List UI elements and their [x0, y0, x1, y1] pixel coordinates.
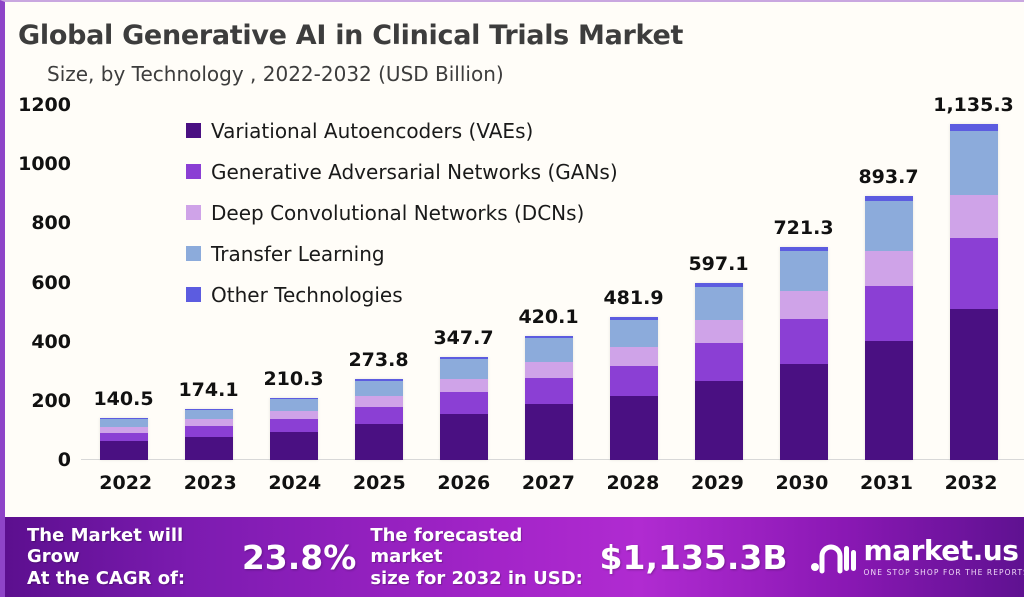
x-axis-tick-label: 2026	[437, 472, 485, 500]
bar-stack[interactable]	[525, 336, 573, 460]
bar-column[interactable]: 893.7	[865, 105, 913, 460]
bar-segment[interactable]	[185, 410, 233, 420]
bar-stack[interactable]	[185, 409, 233, 461]
bar-value-label: 273.8	[348, 349, 408, 371]
bar-segment[interactable]	[610, 366, 658, 396]
y-axis-tick: 0	[58, 449, 71, 471]
bar-segment[interactable]	[525, 362, 573, 378]
bar-segment[interactable]	[270, 432, 318, 460]
x-axis-tick-label: 2025	[353, 472, 401, 500]
bar-value-label: 347.7	[433, 327, 493, 349]
logo-tagline: ONE STOP SHOP FOR THE REPORTS	[864, 568, 1024, 577]
y-axis-tick: 1000	[18, 153, 71, 175]
forecast-value: $1,135.3B	[600, 538, 788, 577]
bar-stack[interactable]	[610, 317, 658, 460]
bar-column[interactable]: 597.1	[695, 105, 743, 460]
bar-segment[interactable]	[780, 251, 828, 292]
bar-segment[interactable]	[100, 441, 148, 460]
bar-stack[interactable]	[865, 196, 913, 460]
bar-column[interactable]: 721.3	[780, 105, 828, 460]
x-axis-tick-label: 2032	[945, 472, 993, 500]
legend-label: Generative Adversarial Networks (GANs)	[211, 160, 618, 184]
chart-infographic: Global Generative AI in Clinical Trials …	[0, 0, 1024, 597]
bar-segment[interactable]	[695, 287, 743, 321]
bar-segment[interactable]	[950, 124, 998, 131]
bar-segment[interactable]	[270, 419, 318, 432]
y-axis-tick: 600	[31, 272, 71, 294]
x-axis-tick-label: 2023	[184, 472, 232, 500]
y-axis-tick: 400	[31, 331, 71, 353]
bar-segment[interactable]	[440, 379, 488, 392]
cagr-caption: The Market will Grow At the CAGR of:	[27, 525, 229, 589]
legend-label: Deep Convolutional Networks (DCNs)	[211, 201, 584, 225]
bar-segment[interactable]	[100, 433, 148, 442]
chart-area: Global Generative AI in Clinical Trials …	[5, 2, 1024, 519]
x-axis-tick-label: 2028	[606, 472, 654, 500]
legend-item[interactable]: Generative Adversarial Networks (GANs)	[186, 151, 618, 192]
bar-segment[interactable]	[525, 404, 573, 460]
bar-value-label: 210.3	[263, 368, 323, 390]
legend-label: Transfer Learning	[211, 242, 385, 266]
bar-segment[interactable]	[865, 251, 913, 285]
x-axis-tick-label: 2024	[268, 472, 316, 500]
legend-label: Variational Autoencoders (VAEs)	[211, 119, 533, 143]
bar-stack[interactable]	[780, 247, 828, 460]
bar-segment[interactable]	[185, 426, 233, 437]
bar-stack[interactable]	[695, 283, 743, 460]
bar-stack[interactable]	[100, 418, 148, 460]
chart-subtitle: Size, by Technology , 2022-2032 (USD Bil…	[47, 62, 504, 86]
bar-segment[interactable]	[525, 378, 573, 404]
bar-segment[interactable]	[950, 131, 998, 195]
bar-segment[interactable]	[440, 359, 488, 379]
bar-segment[interactable]	[355, 396, 403, 407]
legend-swatch	[186, 287, 201, 302]
legend-swatch	[186, 123, 201, 138]
market-us-logo: market.us ONE STOP SHOP FOR THE REPORTS	[810, 537, 1024, 577]
cagr-value: 23.8%	[242, 538, 357, 577]
bar-segment[interactable]	[270, 399, 318, 411]
footer-banner: The Market will Grow At the CAGR of: 23.…	[5, 517, 1024, 597]
bar-value-label: 1,135.3	[933, 94, 1014, 116]
logo-text-block: market.us ONE STOP SHOP FOR THE REPORTS	[864, 537, 1024, 577]
bar-segment[interactable]	[950, 195, 998, 239]
bar-segment[interactable]	[865, 341, 913, 460]
legend-item[interactable]: Deep Convolutional Networks (DCNs)	[186, 192, 618, 233]
bar-segment[interactable]	[780, 364, 828, 460]
legend-swatch	[186, 205, 201, 220]
bar-stack[interactable]	[355, 379, 403, 460]
x-axis-tick-label: 2030	[776, 472, 824, 500]
bar-segment[interactable]	[355, 424, 403, 460]
bar-segment[interactable]	[695, 320, 743, 343]
x-axis-tick-label: 2022	[99, 472, 147, 500]
bar-segment[interactable]	[440, 414, 488, 460]
x-axis-tick-label: 2029	[691, 472, 739, 500]
bar-segment[interactable]	[610, 320, 658, 347]
bar-segment[interactable]	[950, 238, 998, 309]
x-axis-tick-label: 2027	[522, 472, 570, 500]
bar-stack[interactable]	[440, 357, 488, 460]
legend-label: Other Technologies	[211, 283, 403, 307]
chart-legend: Variational Autoencoders (VAEs)Generativ…	[186, 110, 618, 315]
bar-segment[interactable]	[610, 347, 658, 366]
legend-swatch	[186, 164, 201, 179]
legend-item[interactable]: Transfer Learning	[186, 233, 618, 274]
logo-wordmark: market.us	[864, 537, 1024, 565]
bar-segment[interactable]	[950, 309, 998, 460]
bar-segment[interactable]	[695, 343, 743, 380]
y-axis-tick: 800	[31, 212, 71, 234]
legend-item[interactable]: Variational Autoencoders (VAEs)	[186, 110, 618, 151]
bar-segment[interactable]	[270, 411, 318, 419]
logo-mark-icon	[810, 540, 856, 574]
bar-value-label: 721.3	[773, 217, 833, 239]
bar-segment[interactable]	[865, 201, 913, 251]
bar-segment[interactable]	[185, 419, 233, 426]
bar-segment[interactable]	[355, 407, 403, 424]
legend-swatch	[186, 246, 201, 261]
bar-value-label: 140.5	[93, 388, 153, 410]
bar-column[interactable]: 1,135.3	[950, 105, 998, 460]
y-axis-tick: 200	[31, 390, 71, 412]
bar-value-label: 893.7	[858, 166, 918, 188]
legend-item[interactable]: Other Technologies	[186, 274, 618, 315]
bar-segment[interactable]	[780, 291, 828, 319]
x-axis-labels: 2022202320242025202620272028202920302031…	[81, 472, 1011, 500]
bar-stack[interactable]	[270, 398, 318, 460]
bar-stack[interactable]	[950, 124, 998, 460]
bar-column[interactable]: 140.5	[100, 105, 148, 460]
bar-segment[interactable]	[695, 381, 743, 460]
bar-segment[interactable]	[780, 319, 828, 364]
x-axis-tick-label: 2031	[860, 472, 908, 500]
bar-value-label: 174.1	[178, 379, 238, 401]
y-axis-tick: 1200	[18, 94, 71, 116]
bar-segment[interactable]	[525, 338, 573, 362]
bar-segment[interactable]	[610, 396, 658, 460]
bar-segment[interactable]	[100, 419, 148, 427]
bar-value-label: 597.1	[688, 253, 748, 275]
page-title: Global Generative AI in Clinical Trials …	[18, 20, 683, 51]
forecast-caption: The forecasted market size for 2032 in U…	[370, 525, 586, 589]
bar-segment[interactable]	[865, 286, 913, 342]
bar-segment[interactable]	[355, 381, 403, 396]
bar-segment[interactable]	[185, 437, 233, 460]
bar-segment[interactable]	[440, 392, 488, 414]
